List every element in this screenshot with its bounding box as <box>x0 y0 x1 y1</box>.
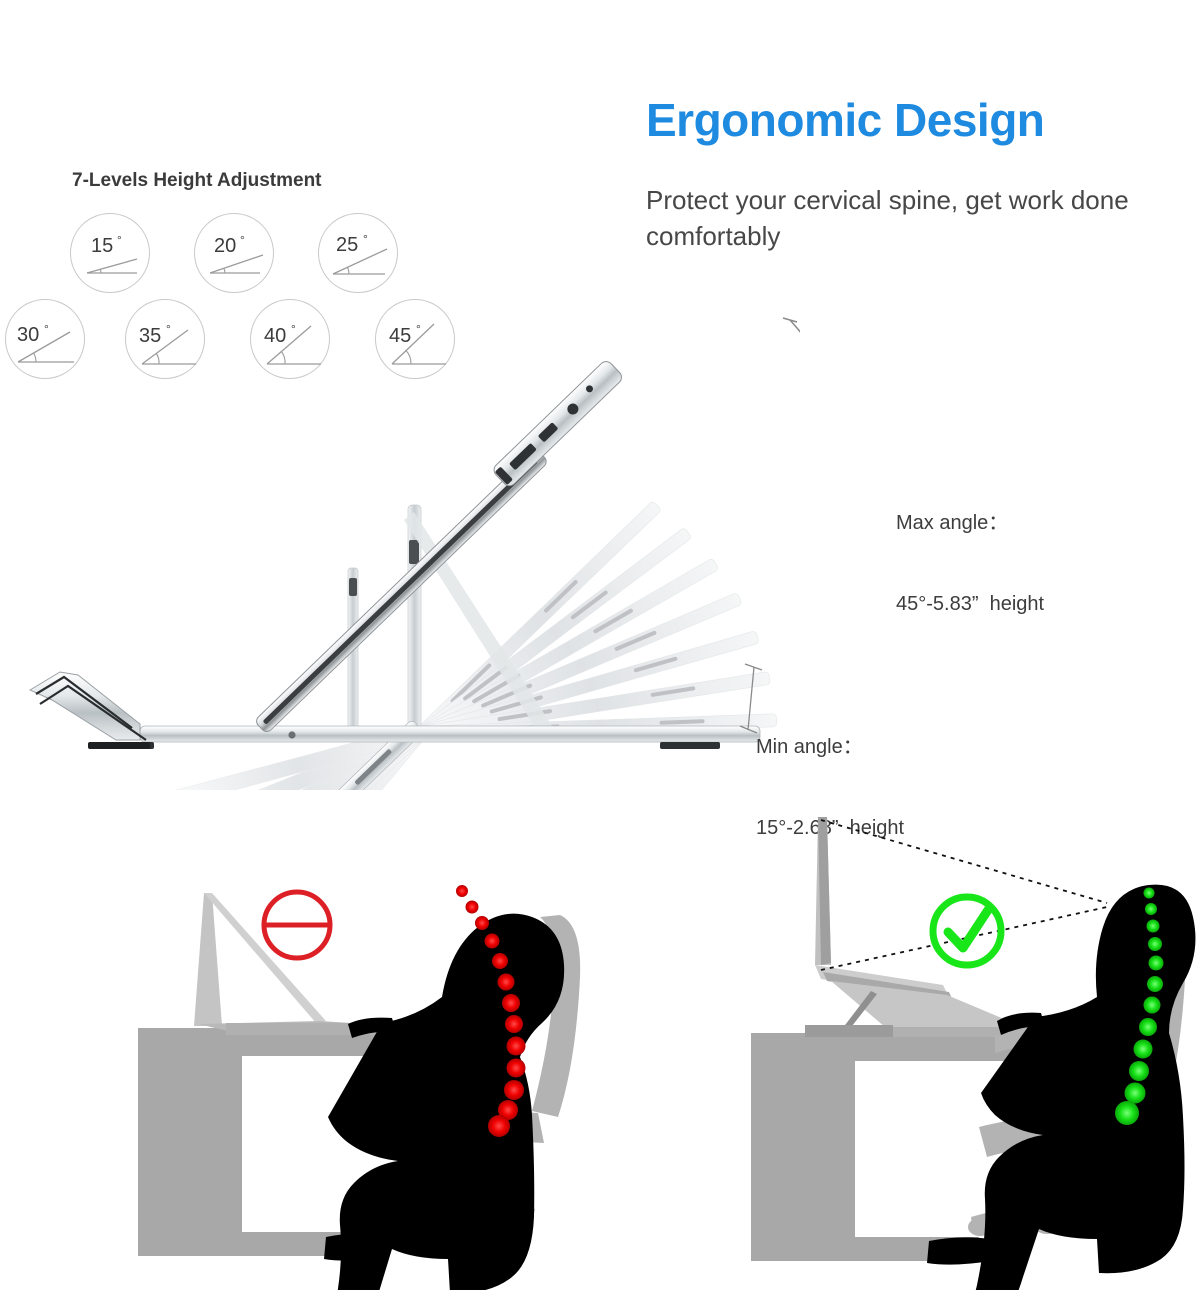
person-silhouette <box>302 914 564 1290</box>
good-posture-illustration <box>735 795 1200 1290</box>
page-subtitle: Protect your cervical spine, get work do… <box>646 183 1186 255</box>
degree-symbol: ° <box>291 322 296 336</box>
angle-value-30: 30 <box>17 324 39 346</box>
angle-value-15: 15 <box>91 235 113 257</box>
angle-value-45: 45 <box>389 325 411 347</box>
levels-section-title: 7-Levels Height Adjustment <box>72 170 322 192</box>
degree-symbol: ° <box>363 232 368 246</box>
angle-badge-40[interactable]: 40 ° <box>250 299 330 379</box>
angle-badge-30[interactable]: 30 ° <box>5 299 85 379</box>
angle-value-25: 25 <box>336 234 358 256</box>
laptop-flat <box>194 893 404 1035</box>
page-title: Ergonomic Design <box>646 96 1166 144</box>
max-angle-callout: Max angle： 45°-5.83” height <box>896 456 1044 645</box>
angle-value-35: 35 <box>139 325 161 347</box>
degree-symbol: ° <box>117 233 122 247</box>
max-angle-value: 45°-5.83” height <box>896 591 1044 618</box>
check-circle-icon <box>933 897 1001 965</box>
angle-badge-45[interactable]: 45 ° <box>375 299 455 379</box>
degree-symbol: ° <box>240 233 245 247</box>
max-angle-label: Max angle： <box>896 510 1044 537</box>
min-angle-label: Min angle： <box>756 734 904 761</box>
degree-symbol: ° <box>416 322 421 336</box>
angle-value-20: 20 <box>214 235 236 257</box>
angle-badge-15[interactable]: 15 ° <box>70 213 150 293</box>
degree-symbol: ° <box>166 322 171 336</box>
angle-value-40: 40 <box>264 325 286 347</box>
stand-base-rail <box>92 726 760 749</box>
angle-badge-35[interactable]: 35 ° <box>125 299 205 379</box>
angle-badge-20[interactable]: 20 ° <box>194 213 274 293</box>
bad-posture-illustration <box>130 795 610 1290</box>
degree-symbol: ° <box>44 322 49 336</box>
angle-range-arc <box>790 320 800 728</box>
stand-front-foot <box>30 672 150 749</box>
laptop-on-stand <box>805 817 1023 1037</box>
angle-badge-25[interactable]: 25 ° <box>318 213 398 293</box>
prohibition-icon <box>264 892 330 958</box>
